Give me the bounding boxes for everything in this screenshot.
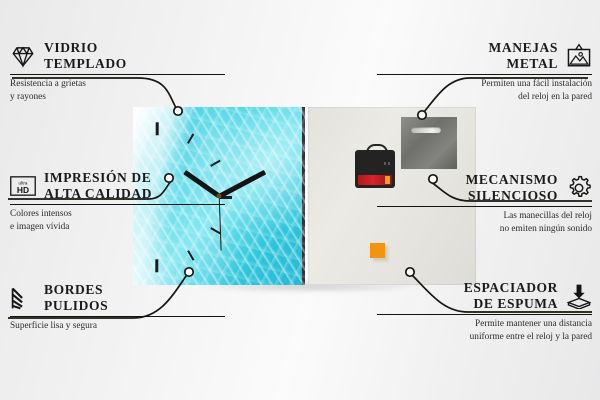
feature-description: Las manecillas del relojno emiten ningún… [377,210,592,235]
feature-impresion-alta-calidad[interactable]: ultra HD IMPRESIÓN DEALTA CALIDAD Colore… [10,170,225,233]
diamond-icon [10,43,36,69]
divider [377,206,592,208]
divider [10,74,225,76]
divider [10,316,225,318]
feature-description: Permiten una fácil instalacióndel reloj … [377,78,592,103]
divider [377,314,592,316]
feature-manejas-metal[interactable]: MANEJASMETAL Permiten una fácil instalac… [377,40,592,103]
feature-title: MECANISMOSILENCIOSO [466,172,558,204]
feature-header: MANEJASMETAL [377,40,592,72]
divider [10,204,225,206]
feature-description: Resistencia a grietasy rayones [10,78,225,103]
feature-espaciador-espuma[interactable]: ESPACIADORDE ESPUMA Permite mantener una… [377,280,592,343]
clock-tick [156,259,159,272]
svg-text:HD: HD [17,185,29,195]
feature-description: Superficie lisa y segura [10,320,225,332]
foam-spacer-icon [566,283,592,309]
feature-header: BORDESPULIDOS [10,282,225,314]
foam-spacer [370,243,385,258]
polished-edges-icon [10,285,36,311]
divider [377,74,592,76]
feature-title: BORDESPULIDOS [44,282,108,314]
feature-description: Permite mantener una distanciauniforme e… [377,318,592,343]
feature-vidrio-templado[interactable]: VIDRIOTEMPLADO Resistencia a grietasy ra… [10,40,225,103]
feature-header: ESPACIADORDE ESPUMA [377,280,592,312]
infographic-stage: VIDRIOTEMPLADO Resistencia a grietasy ra… [0,0,600,400]
feature-title: IMPRESIÓN DEALTA CALIDAD [44,170,152,202]
feature-title: ESPACIADORDE ESPUMA [464,280,558,312]
hanger-slot [411,127,441,133]
feature-header: VIDRIOTEMPLADO [10,40,225,72]
feature-mecanismo-silencioso[interactable]: MECANISMOSILENCIOSO Las manecillas del r… [377,172,592,235]
mechanism-loop [366,144,388,155]
picture-hanger-icon [566,43,592,69]
feature-header: MECANISMOSILENCIOSO [377,172,592,204]
feature-title: VIDRIOTEMPLADO [44,40,127,72]
clock-tick [156,122,159,135]
ultra-hd-icon: ultra HD [10,173,36,199]
gear-icon [566,175,592,201]
feature-description: Colores intensose imagen vívida [10,208,225,233]
mechanism-label [384,162,392,165]
feature-bordes-pulidos[interactable]: BORDESPULIDOS Superficie lisa y segura [10,282,225,333]
feature-title: MANEJASMETAL [489,40,558,72]
feature-header: ultra HD IMPRESIÓN DEALTA CALIDAD [10,170,225,202]
metal-hanger-plate [401,117,457,169]
